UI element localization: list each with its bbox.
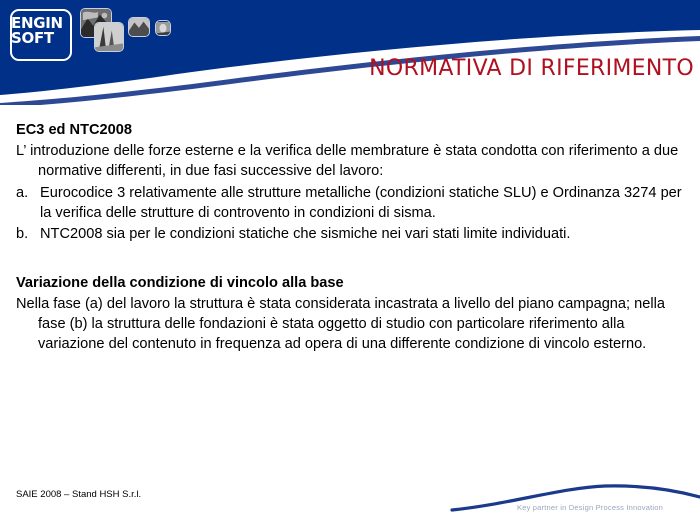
section-2-paragraph: Nella fase (a) del lavoro la struttura è… — [16, 294, 692, 354]
footer-caption: SAIE 2008 – Stand HSH S.r.l. — [16, 489, 141, 500]
paragraph-line: L’ introduzione delle forze esterne e la… — [16, 143, 565, 159]
lettered-list: a. Eurocodice 3 relativamente alle strut… — [16, 183, 692, 244]
paragraph-line: Nella fase (a) del lavoro la struttura è… — [16, 296, 554, 312]
list-item: a. Eurocodice 3 relativamente alle strut… — [16, 183, 692, 223]
list-marker: a. — [16, 183, 40, 203]
paragraph-line: differente condizione di vincolo esterno… — [390, 336, 646, 352]
list-line: Eurocodice 3 relativamente alle struttur… — [40, 185, 549, 201]
photo-thumbnail-2-icon — [94, 22, 124, 52]
footer-tagline: Key partner in Design Process Innovation — [517, 503, 663, 512]
enginsoft-logo-text: ENGIN SOFT — [11, 16, 63, 46]
list-item-text: NTC2008 sia per le condizioni statiche c… — [40, 224, 692, 244]
section-spacer — [16, 245, 692, 273]
page-title: NORMATIVA DI RIFERIMENTO — [369, 56, 694, 81]
list-item: b. NTC2008 sia per le condizioni statich… — [16, 224, 692, 244]
footer-arc-decoration — [450, 478, 700, 525]
photo-thumbnail-3-icon — [128, 17, 150, 37]
list-line: NTC2008 sia per le condizioni statiche c… — [40, 226, 570, 242]
slide: ENGIN SOFT — [0, 0, 700, 525]
section-heading-2: Variazione della condizione di vincolo a… — [16, 273, 692, 293]
section-1-paragraph: L’ introduzione delle forze esterne e la… — [16, 141, 692, 181]
list-marker: b. — [16, 224, 40, 244]
header-banner: ENGIN SOFT — [0, 0, 700, 105]
section-heading-1: EC3 ed NTC2008 — [16, 120, 692, 140]
slide-body: EC3 ed NTC2008 L’ introduzione delle for… — [16, 120, 692, 354]
list-item-text: Eurocodice 3 relativamente alle struttur… — [40, 183, 692, 223]
photo-thumbnail-4-icon — [155, 20, 171, 36]
